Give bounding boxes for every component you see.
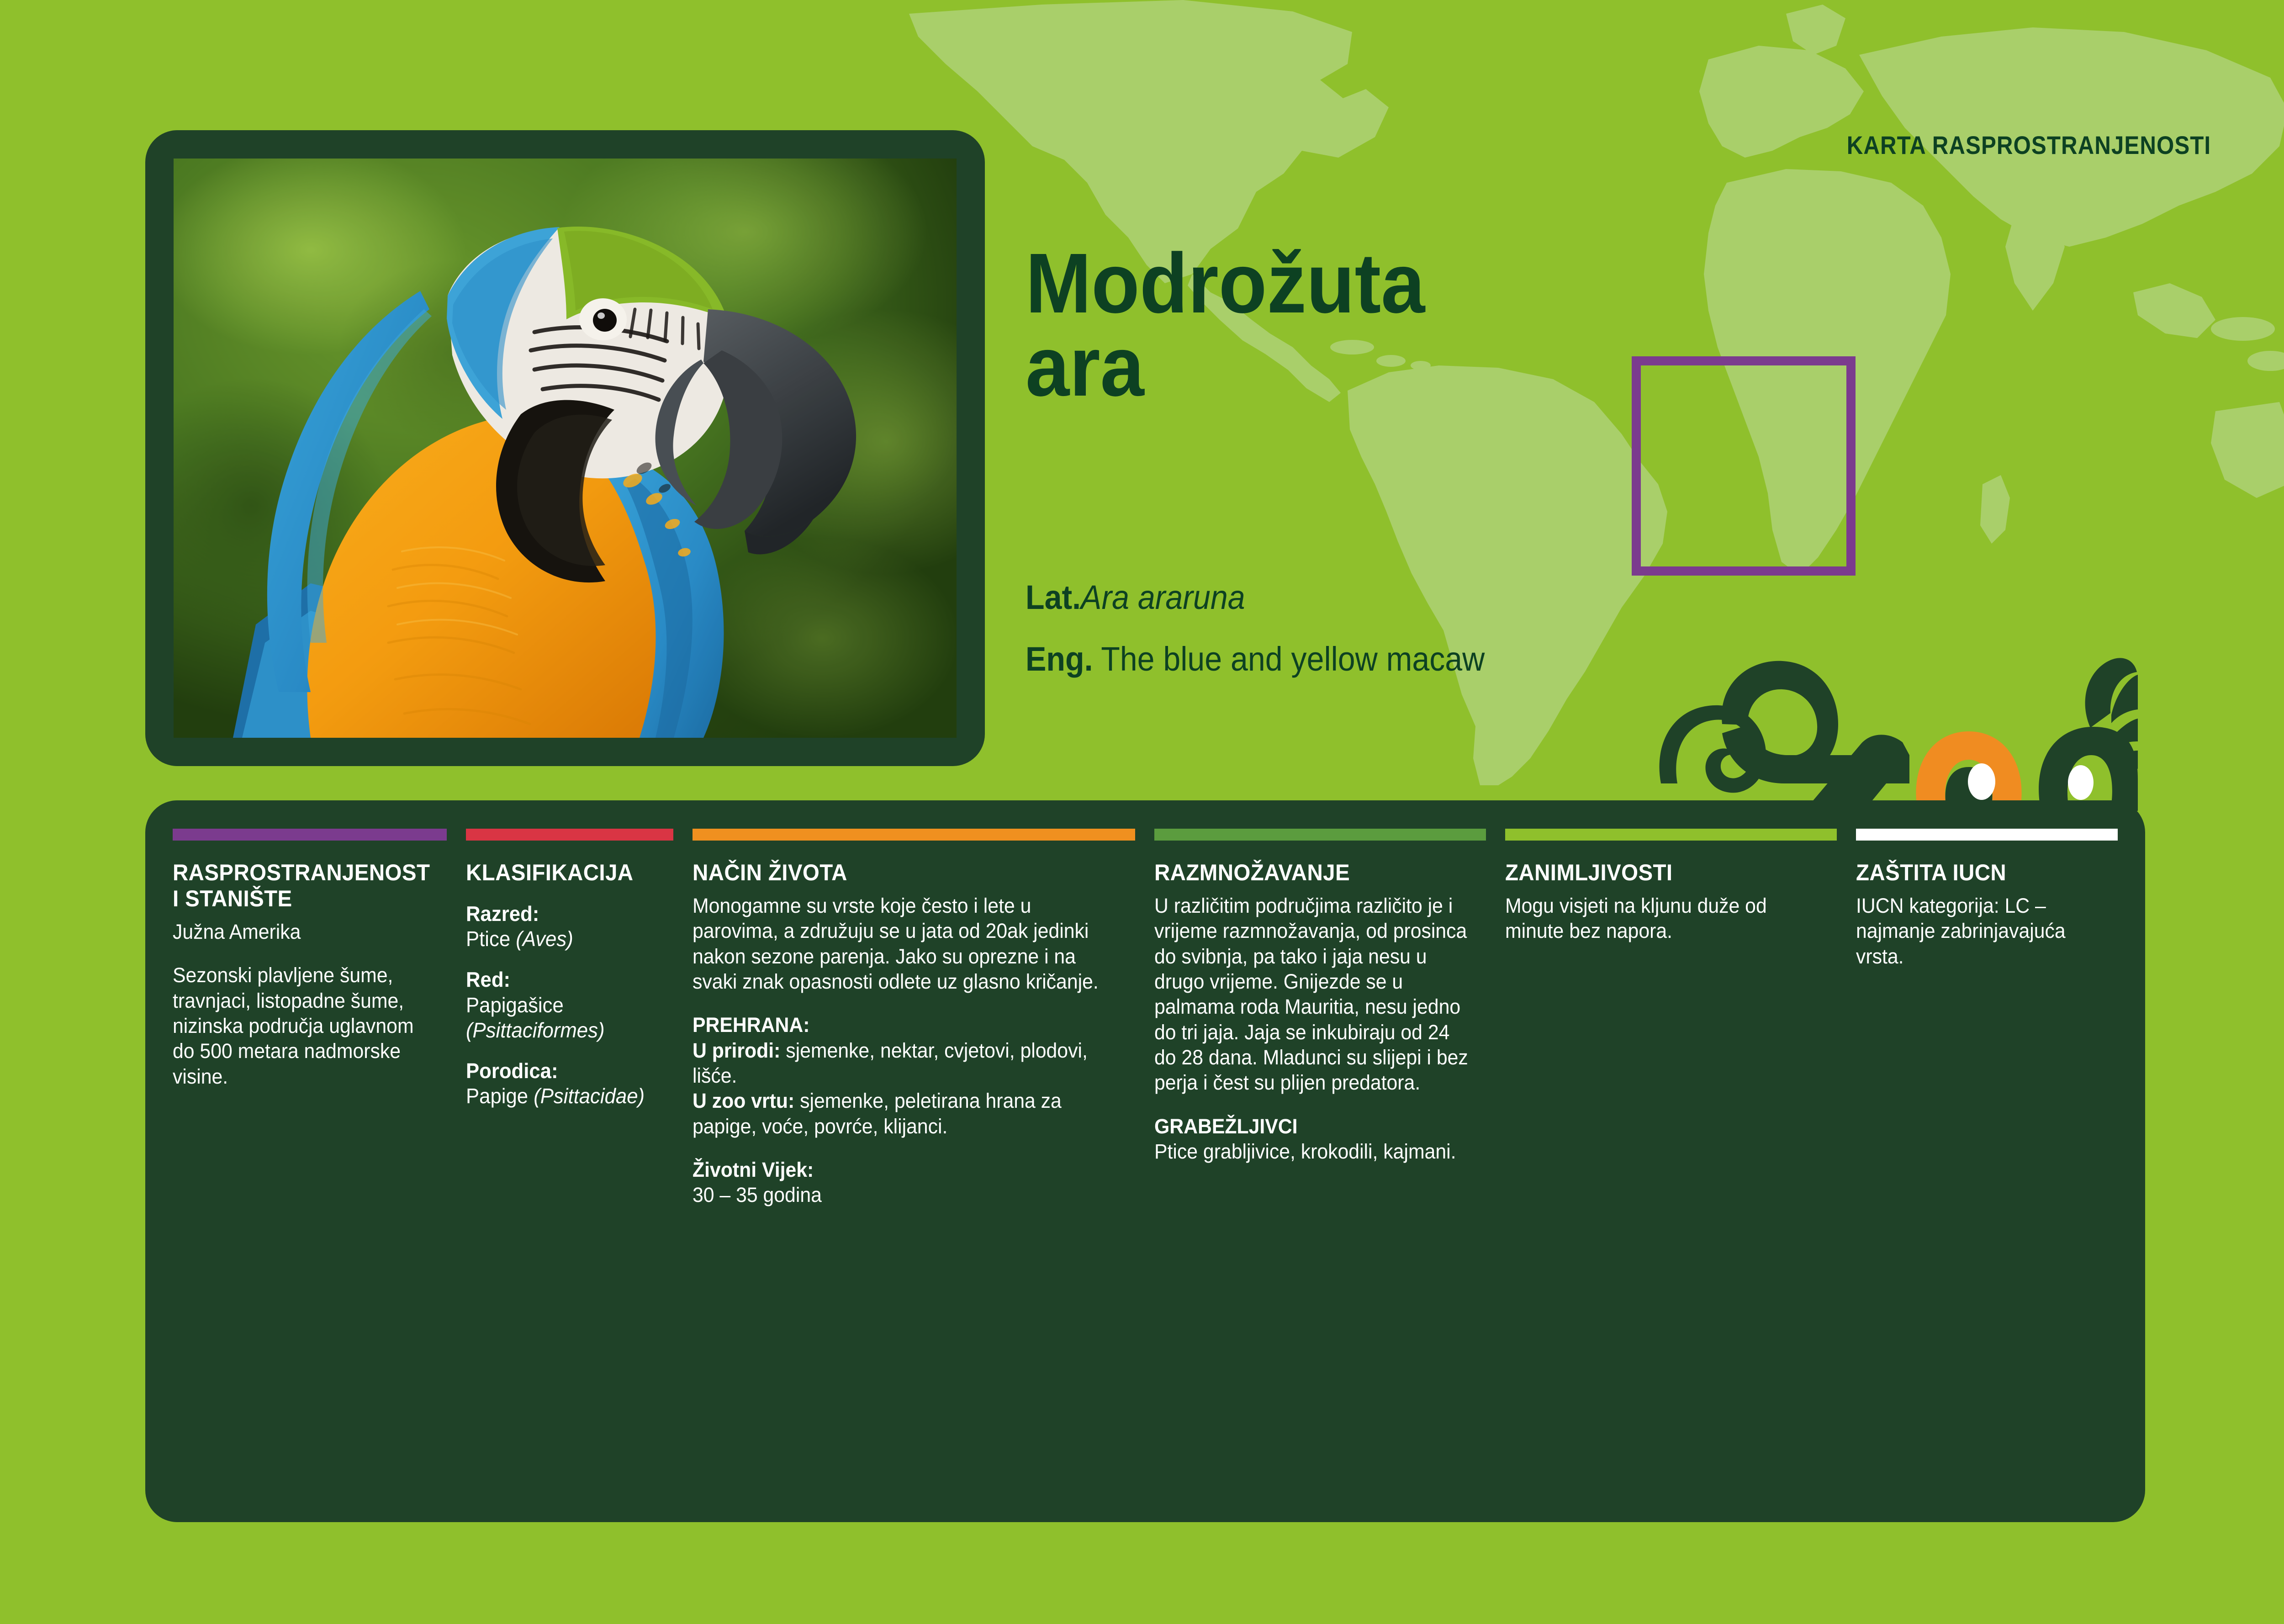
- lifestyle-body: Monogamne su vrste koje često i lete u p…: [693, 893, 1113, 994]
- classification-family-value: Papige (Psittacidae): [466, 1084, 663, 1109]
- classification-family: Porodica: Papige (Psittacidae): [466, 1058, 673, 1109]
- range-highlight-box: [1632, 356, 1856, 576]
- lifespan-heading: Životni Vijek:: [693, 1157, 1113, 1182]
- classification-order-label: Red:: [466, 967, 663, 992]
- classification-class-label: Razred:: [466, 901, 663, 926]
- column-reproduction: RAZMNOŽAVANJE U različitim područjima ra…: [1154, 829, 1505, 1504]
- column-title-distribution: RASPROSTRANJENOST I STANIŠTE: [173, 860, 433, 912]
- info-panel: RASPROSTRANJENOST I STANIŠTE Južna Ameri…: [145, 800, 2145, 1522]
- diet-zoo: U zoo vrtu: sjemenke, peletirana hrana z…: [693, 1088, 1113, 1139]
- diet-wild: U prirodi: sjemenke, nektar, cvjetovi, p…: [693, 1038, 1113, 1089]
- classification-family-label: Porodica:: [466, 1058, 663, 1084]
- english-name-label: Eng.: [1026, 640, 1093, 678]
- species-photo-frame: [145, 130, 985, 766]
- distribution-lead: Južna Amerika: [173, 919, 433, 944]
- predators-heading: GRABEŽLJIVCI: [1154, 1114, 1470, 1139]
- classification-order-value: Papigašice (Psittaciformes): [466, 993, 663, 1043]
- column-facts: ZANIMLJIVOSTI Mogu visjeti na kljunu duž…: [1505, 829, 1856, 1504]
- accent-bar-conservation: [1856, 829, 2118, 841]
- column-lifestyle: NAČIN ŽIVOTA Monogamne su vrste koje čes…: [693, 829, 1154, 1504]
- column-title-conservation: ZAŠTITA IUCN: [1856, 860, 2104, 886]
- title-block: Modrožuta ara: [1026, 242, 1619, 409]
- page-title: Modrožuta ara: [1026, 242, 1578, 409]
- lifespan-value: 30 – 35 godina: [693, 1182, 1113, 1207]
- accent-bar-lifestyle: [693, 829, 1135, 841]
- species-photo: [174, 159, 957, 738]
- conservation-body: IUCN kategorija: LC – najmanje zabrinjav…: [1856, 893, 2104, 969]
- english-name-value: The blue and yellow macaw: [1101, 640, 1485, 678]
- latin-name-value: Ara araruna: [1081, 578, 1245, 616]
- classification-order: Red: Papigašice (Psittaciformes): [466, 967, 673, 1043]
- classification-class: Razred: Ptice (Aves): [466, 901, 673, 952]
- facts-body: Mogu visjeti na kljunu duže od minute be…: [1505, 893, 1820, 944]
- column-title-classification: KLASIFIKACIJA: [466, 860, 663, 886]
- column-classification: KLASIFIKACIJA Razred: Ptice (Aves) Red: …: [466, 829, 693, 1504]
- distribution-body: Sezonski plavljene šume, travnjaci, list…: [173, 963, 433, 1089]
- diet-heading: PREHRANA:: [693, 1012, 1113, 1037]
- accent-bar-distribution: [173, 829, 447, 841]
- map-label: KARTA RASPROSTRANJENOSTI: [1847, 130, 2211, 160]
- column-title-reproduction: RAZMNOŽAVANJE: [1154, 860, 1470, 886]
- latin-name-row: Lat.Ara araruna: [1026, 578, 1245, 617]
- column-distribution: RASPROSTRANJENOST I STANIŠTE Južna Ameri…: [173, 829, 466, 1504]
- reproduction-body: U različitim područjima različito je i v…: [1154, 893, 1470, 1095]
- english-name-row: Eng. The blue and yellow macaw: [1026, 640, 1485, 678]
- column-title-facts: ZANIMLJIVOSTI: [1505, 860, 1820, 886]
- predators-value: Ptice grabljivice, krokodili, kajmani.: [1154, 1139, 1470, 1164]
- accent-bar-facts: [1505, 829, 1837, 841]
- accent-bar-reproduction: [1154, 829, 1486, 841]
- latin-name-label: Lat.: [1026, 578, 1081, 616]
- zoo-logo: [1654, 646, 2138, 811]
- accent-bar-classification: [466, 829, 673, 841]
- classification-class-value: Ptice (Aves): [466, 926, 663, 952]
- column-conservation: ZAŠTITA IUCN IUCN kategorija: LC – najma…: [1856, 829, 2118, 1504]
- column-title-lifestyle: NAČIN ŽIVOTA: [693, 860, 1113, 886]
